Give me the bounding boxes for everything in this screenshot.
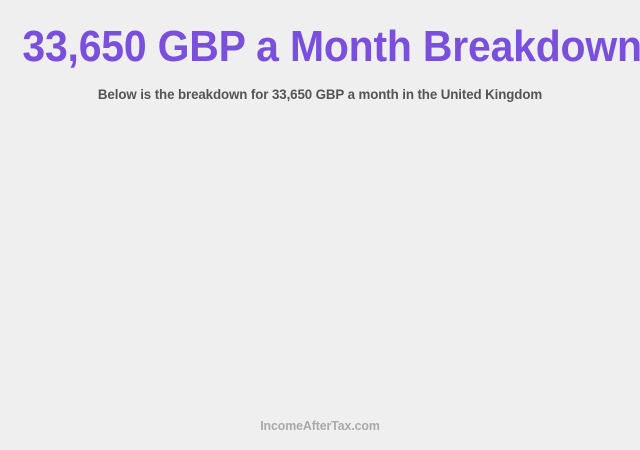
footer: IncomeAfterTax.com (0, 418, 640, 450)
page-title: 33,650 GBP a Month Breakdown (22, 22, 617, 72)
header: 33,650 GBP a Month Breakdown Below is th… (0, 0, 640, 102)
site-watermark: IncomeAfterTax.com (16, 418, 624, 434)
page-subtitle: Below is the breakdown for 33,650 GBP a … (16, 86, 624, 102)
breakdown-content-area (0, 102, 640, 418)
page-root: 33,650 GBP a Month Breakdown Below is th… (0, 0, 640, 450)
